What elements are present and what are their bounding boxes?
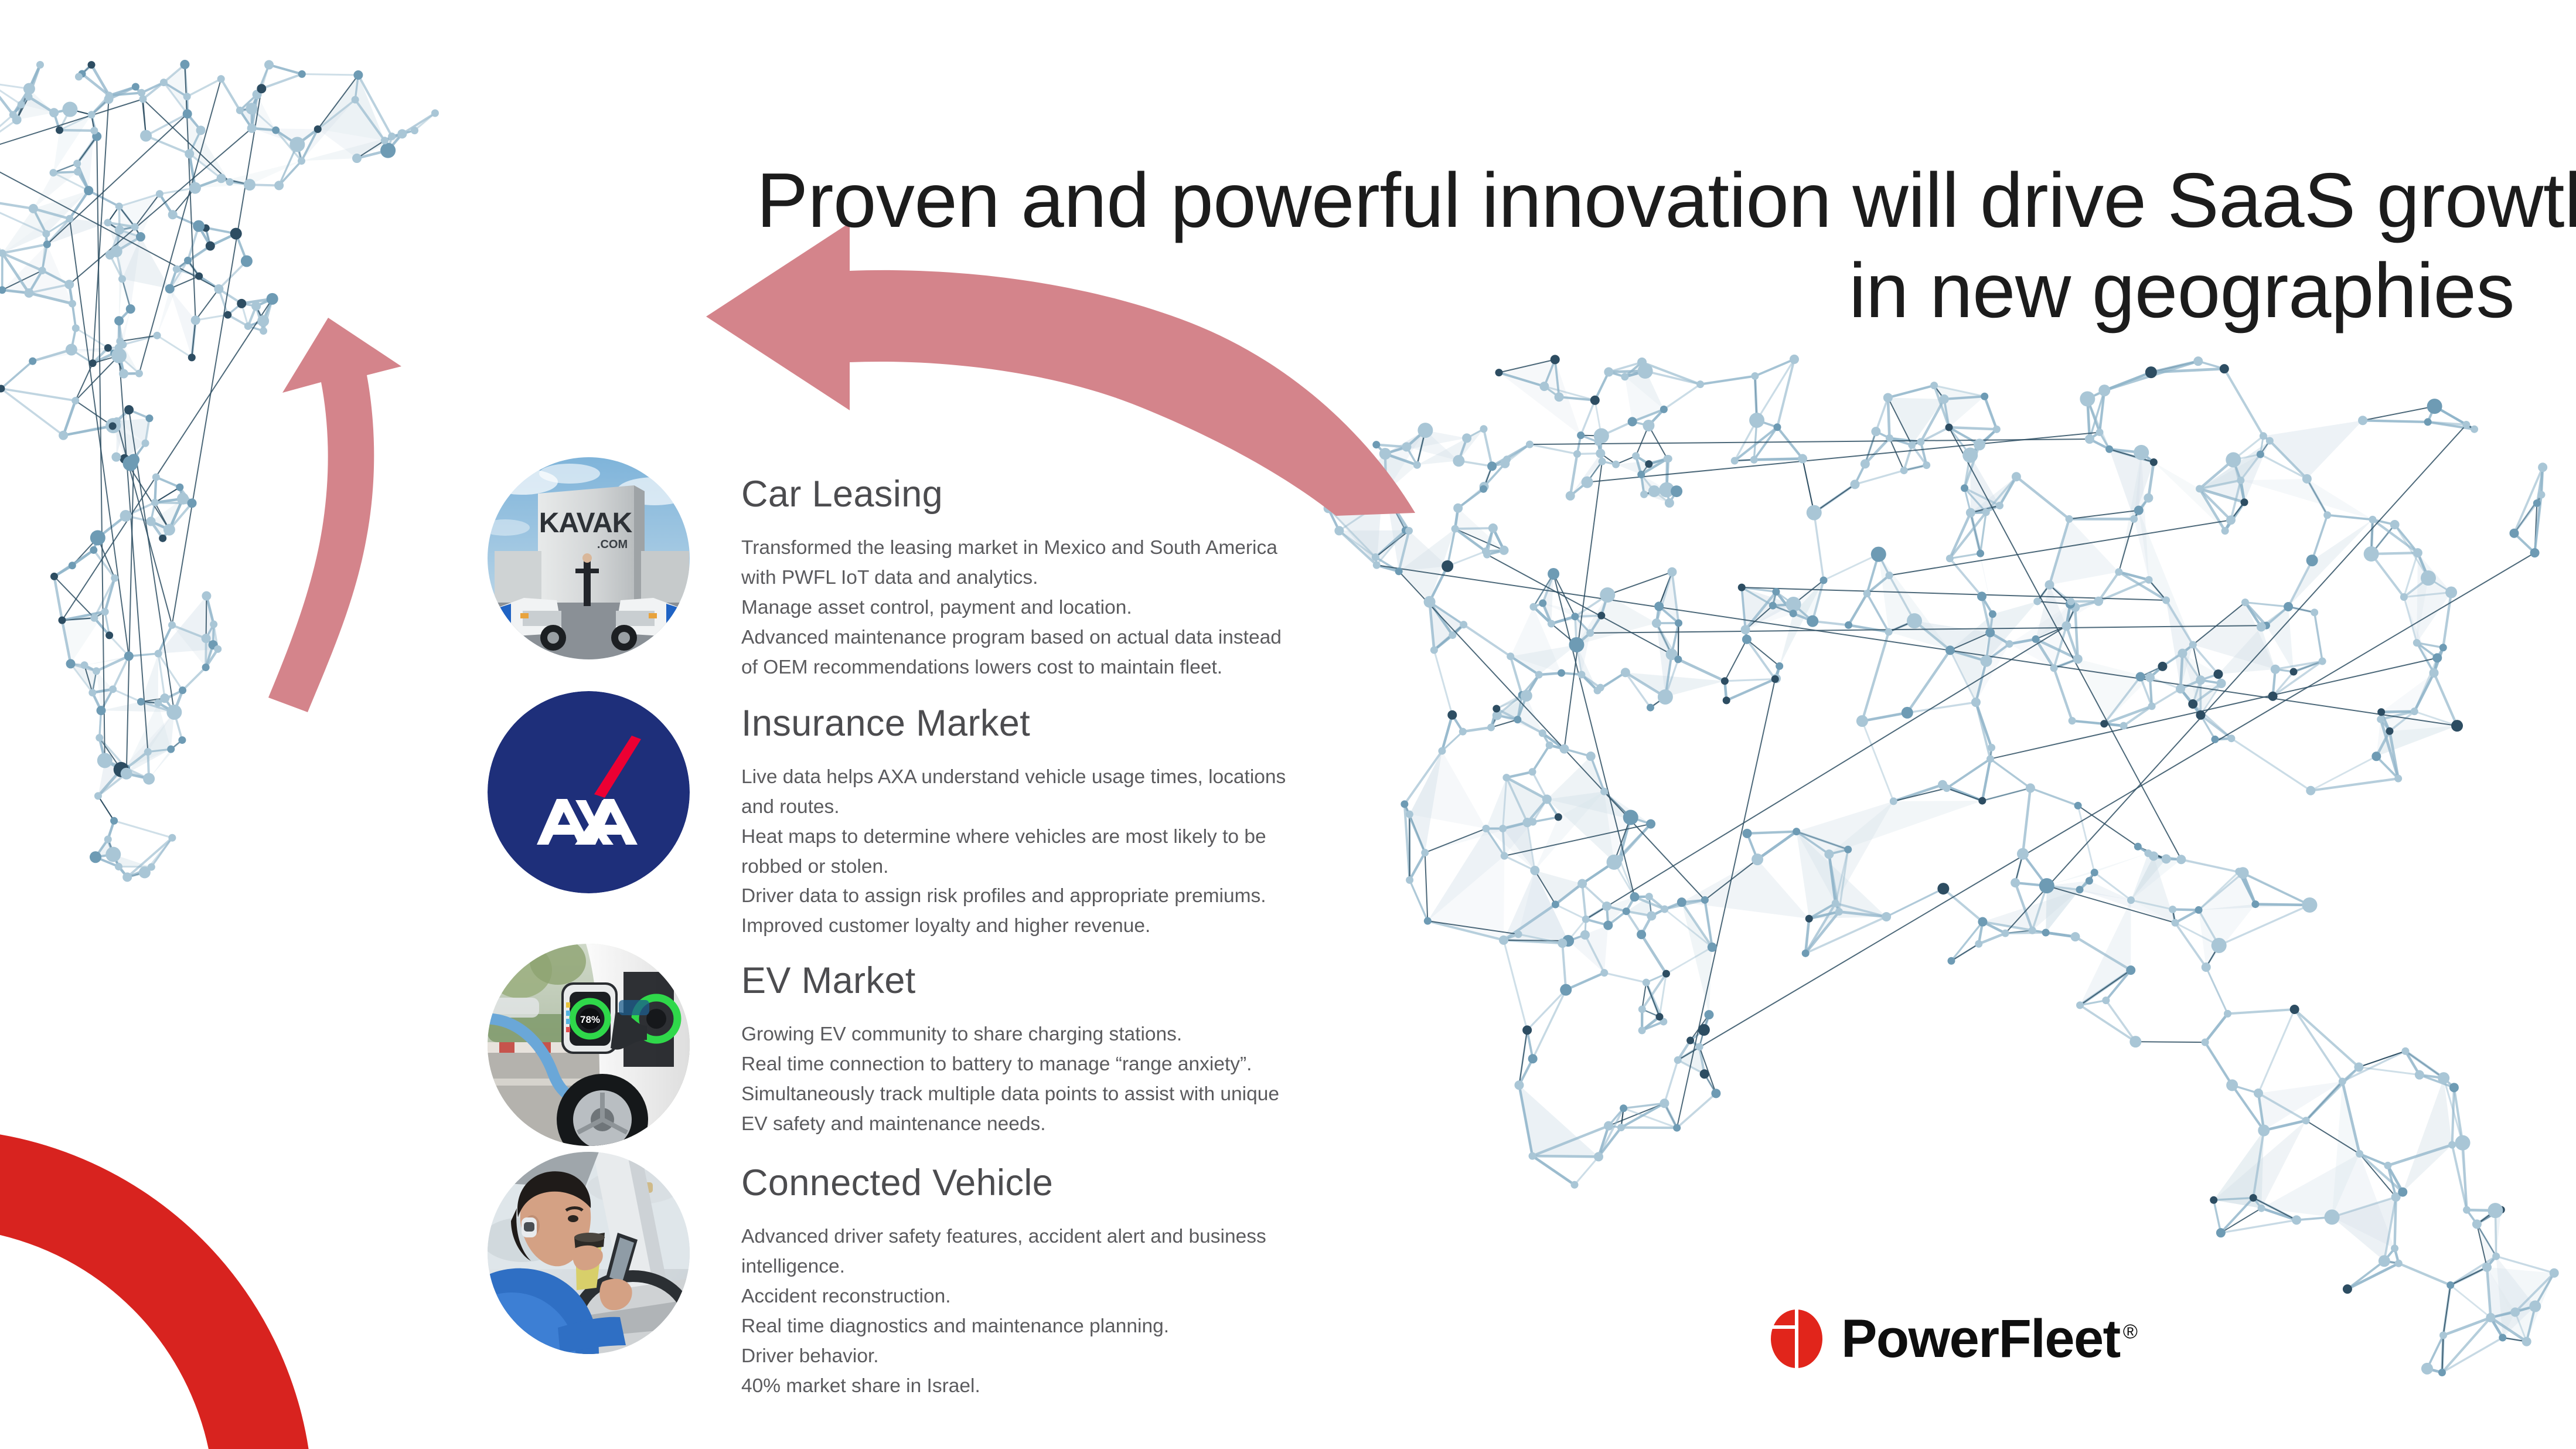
block-text: EV Market Growing EV community to share … (690, 944, 1279, 1140)
list-item: Connected Vehicle Advanced driver safety… (488, 1152, 1273, 1402)
block-heading: Car Leasing (741, 475, 1282, 513)
body-line: Manage asset control, payment and locati… (741, 593, 1282, 623)
body-line: Live data helps AXA understand vehicle u… (741, 763, 1286, 792)
body-line: Driver data to assign risk profiles and … (741, 882, 1286, 911)
body-line: Advanced driver safety features, acciden… (741, 1222, 1266, 1252)
block-body: Growing EV community to share charging s… (741, 1020, 1279, 1140)
body-line: intelligence. (741, 1252, 1266, 1282)
body-line: Advanced maintenance program based on ac… (741, 623, 1282, 653)
block-body: Advanced driver safety features, acciden… (741, 1222, 1266, 1401)
block-heading: EV Market (741, 961, 1279, 1000)
market-segment-list: KAVAK .COM (488, 457, 1273, 1406)
world-network-map (1225, 328, 2576, 1442)
logo-text: PowerFleet (1841, 1309, 2120, 1369)
connected-driver-photo (488, 1152, 690, 1354)
powerfleet-wordmark: PowerFleet® (1841, 1312, 2137, 1366)
block-text: Car Leasing Transformed the leasing mark… (690, 457, 1282, 683)
svg-text:.COM: .COM (597, 538, 628, 551)
body-line: Accident reconstruction. (741, 1282, 1266, 1312)
body-line: Transformed the leasing market in Mexico… (741, 533, 1282, 563)
body-line: Driver behavior. (741, 1342, 1266, 1372)
block-heading: Connected Vehicle (741, 1164, 1266, 1202)
body-line: with PWFL IoT data and analytics. (741, 563, 1282, 593)
list-item: Insurance Market Live data helps AXA und… (488, 691, 1273, 942)
kavak-dealership-photo: KAVAK .COM (488, 457, 690, 659)
powerfleet-logo: PowerFleet® (1770, 1308, 2137, 1369)
red-corner-arc (0, 1049, 393, 1449)
title-line-2: in new geographies (757, 246, 2514, 336)
block-text: Connected Vehicle Advanced driver safety… (690, 1152, 1266, 1402)
block-text: Insurance Market Live data helps AXA und… (690, 691, 1286, 942)
axa-logo (488, 691, 690, 893)
body-line: and routes. (741, 792, 1286, 822)
presentation-slide: Proven and powerful innovation will driv… (0, 0, 2576, 1449)
svg-text:KAVAK: KAVAK (539, 508, 633, 539)
registered-trademark-icon: ® (2123, 1321, 2137, 1343)
ev-charging-photo: 78% (488, 944, 690, 1146)
block-body: Live data helps AXA understand vehicle u… (741, 763, 1286, 941)
body-line: EV safety and maintenance needs. (741, 1110, 1279, 1140)
body-line: of OEM recommendations lowers cost to ma… (741, 653, 1282, 683)
body-line: robbed or stolen. (741, 852, 1286, 882)
body-line: 40% market share in Israel. (741, 1372, 1266, 1402)
body-line: Simultaneously track multiple data point… (741, 1080, 1279, 1110)
body-line: Growing EV community to share charging s… (741, 1020, 1279, 1050)
block-heading: Insurance Market (741, 704, 1286, 743)
page-title: Proven and powerful innovation will driv… (757, 155, 2514, 336)
body-line: Real time diagnostics and maintenance pl… (741, 1312, 1266, 1342)
body-line: Real time connection to battery to manag… (741, 1050, 1279, 1080)
body-line: Heat maps to determine where vehicles ar… (741, 822, 1286, 852)
curved-arrow-up (252, 311, 445, 715)
list-item: 78% (488, 944, 1273, 1146)
powerfleet-mark-icon (1770, 1308, 1824, 1369)
ev-charge-readout: 78% (580, 1014, 600, 1025)
title-line-1: Proven and powerful innovation will driv… (757, 155, 2514, 246)
list-item: KAVAK .COM (488, 457, 1273, 683)
body-line: Improved customer loyalty and higher rev… (741, 911, 1286, 941)
block-body: Transformed the leasing market in Mexico… (741, 533, 1282, 683)
